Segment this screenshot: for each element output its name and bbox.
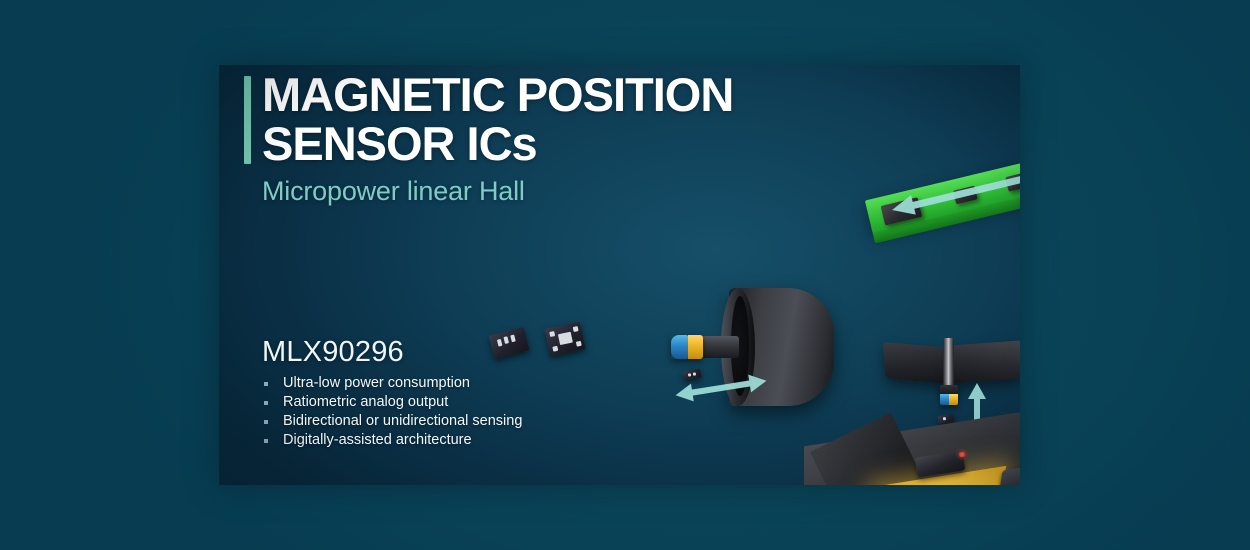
page-canvas: Caps Lock E R S ⇧ Shift A D Y [0, 0, 1250, 550]
smd-pad [688, 373, 691, 376]
wing-shaft [943, 338, 954, 390]
magnet-south-pole [688, 335, 703, 359]
smd-pad [503, 336, 509, 344]
rotary-barrel-actuator [659, 280, 879, 420]
smd-package-cluster [491, 323, 601, 373]
magnet-south-pole [949, 394, 958, 405]
arrow-head-left [674, 384, 694, 404]
smd-pad [497, 339, 503, 347]
sot23-package [489, 327, 530, 359]
magnet-body-dark [940, 385, 958, 394]
smd-center-pad [558, 332, 573, 345]
smd-pad [573, 326, 579, 332]
list-item: Bidirectional or unidirectional sensing [262, 413, 522, 430]
product-part-number: MLX90296 [262, 336, 404, 369]
shaft-magnet [671, 335, 703, 359]
feature-list: Ultra-low power consumption Ratiometric … [262, 375, 522, 451]
page-title: MAGNETIC POSITION SENSOR ICs [262, 70, 733, 168]
list-item: Ultra-low power consumption [262, 375, 522, 392]
barrel-sensor-ic [682, 369, 701, 381]
smd-pad [510, 335, 516, 343]
magnet-north-pole [940, 394, 949, 405]
arrow-shaft [690, 380, 752, 396]
product-banner-card: Caps Lock E R S ⇧ Shift A D Y [219, 65, 1020, 485]
arrow-head-left [890, 195, 916, 220]
list-item: Digitally-assisted architecture [262, 432, 522, 449]
smd-pad [693, 372, 696, 375]
smd-pad [549, 331, 555, 337]
title-line-1: MAGNETIC POSITION [262, 70, 733, 119]
wing-panel-right [947, 340, 1020, 383]
arrow-head-right [748, 372, 768, 392]
wing-magnet [940, 385, 958, 405]
title-accent-bar [244, 76, 251, 164]
page-subtitle: Micropower linear Hall [262, 176, 525, 207]
magnet-north-pole [671, 335, 688, 359]
mechanical-keyboard: Caps Lock E R S ⇧ Shift A D Y [804, 410, 1020, 485]
linear-rail-assembly [874, 160, 1020, 305]
title-line-2: SENSOR ICs [262, 119, 733, 168]
list-item: Ratiometric analog output [262, 394, 522, 411]
dfn-package [544, 322, 585, 357]
wing-panel-left [883, 342, 951, 384]
smd-pad [552, 346, 558, 352]
smd-pad [576, 341, 582, 347]
arrow-head-up [968, 383, 986, 399]
